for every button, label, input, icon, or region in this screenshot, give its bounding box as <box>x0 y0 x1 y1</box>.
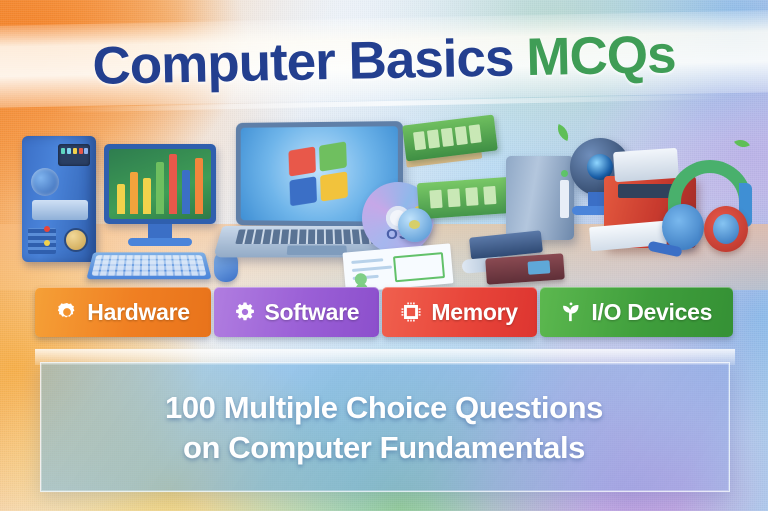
category-label-hardware: Hardware <box>87 299 189 326</box>
poster-canvas: Computer Basics MCQs <box>0 0 768 511</box>
leaf-decor-2 <box>734 136 750 152</box>
title-main-text: Computer Basics <box>92 31 514 92</box>
subtitle-line-2: on Computer Fundamentals <box>183 430 585 467</box>
globe-icon <box>398 208 432 242</box>
category-badge-software[interactable]: Software <box>214 287 379 337</box>
gear-icon <box>56 301 78 323</box>
laptop-trackpad <box>287 246 347 255</box>
category-badge-row: Hardware Software Memory I/O Devices <box>35 287 733 337</box>
category-badge-memory[interactable]: Memory <box>382 287 537 337</box>
category-badge-hardware[interactable]: Hardware <box>35 287 211 337</box>
smartphone-icon <box>485 253 565 284</box>
microchip-icon <box>400 301 422 323</box>
subtitle-line-1: 100 Multiple Choice Questions <box>165 390 603 427</box>
cog-icon <box>234 301 256 323</box>
category-label-io-devices: I/O Devices <box>591 299 712 326</box>
monitor-icon <box>104 144 216 224</box>
tower-power-button <box>64 228 88 252</box>
external-hard-drive-icon <box>506 156 574 240</box>
monitor-base <box>128 238 192 246</box>
keyboard-icon <box>86 252 211 279</box>
circuit-board-icon <box>417 177 515 220</box>
category-label-software: Software <box>265 299 360 326</box>
tower-badge <box>31 168 59 196</box>
leaf-decor-1 <box>554 124 572 141</box>
seedling-icon <box>560 301 582 323</box>
tower-drive-bay <box>58 144 90 166</box>
tower-optical-drive <box>32 200 88 220</box>
headphone-ear-cup-left <box>662 204 704 250</box>
title-accent-text: MCQs <box>526 28 676 84</box>
ram-module-icon <box>402 115 498 162</box>
headphone-ear-cup-right <box>704 206 748 252</box>
category-label-memory: Memory <box>431 299 517 326</box>
tower-vents <box>28 228 56 254</box>
desktop-tower-icon <box>22 136 96 262</box>
hero-illustration: OS <box>0 108 768 290</box>
windows-logo-icon <box>288 141 348 206</box>
subtitle-block: 100 Multiple Choice Questions on Compute… <box>40 380 728 476</box>
monitor-screen-bar-chart <box>109 149 211 219</box>
page-title: Computer Basics MCQs <box>0 14 768 105</box>
category-badge-io-devices[interactable]: I/O Devices <box>540 287 734 337</box>
